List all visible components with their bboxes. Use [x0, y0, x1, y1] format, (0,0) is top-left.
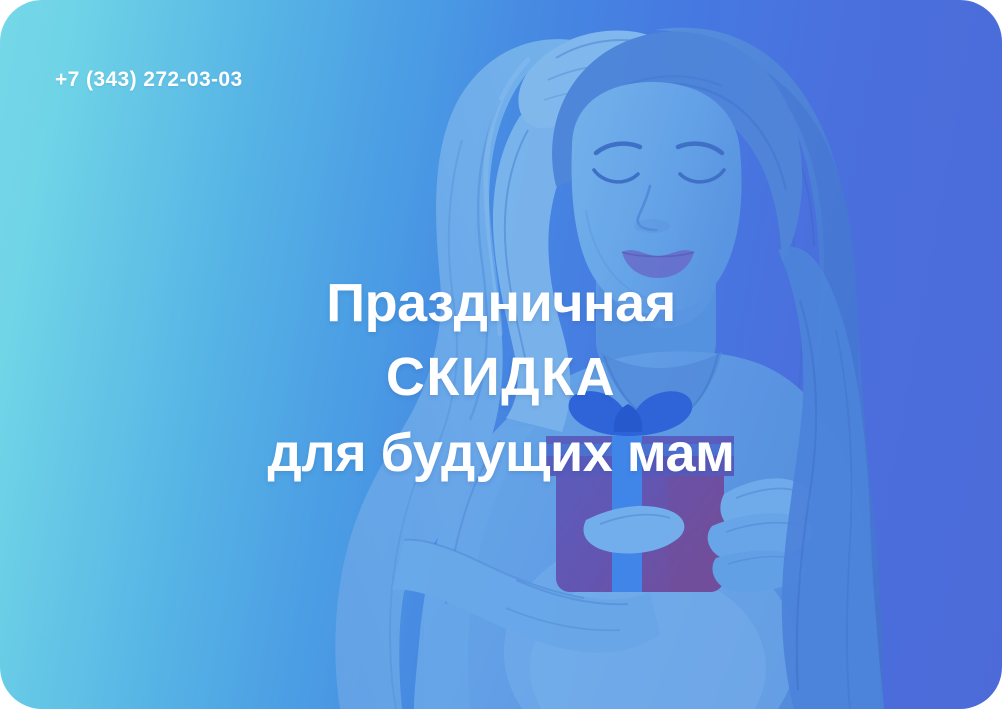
phone-number[interactable]: +7 (343) 272-03-03 [55, 68, 243, 92]
headline-line-3: для будущих мам [0, 426, 1002, 480]
headline-line-2: СКИДКА [0, 350, 1002, 404]
promo-banner: +7 (343) 272-03-03 Праздничная СКИДКА дл… [0, 0, 1002, 709]
headline-line-1: Праздничная [0, 276, 1002, 330]
headline: Праздничная СКИДКА для будущих мам [0, 276, 1002, 480]
